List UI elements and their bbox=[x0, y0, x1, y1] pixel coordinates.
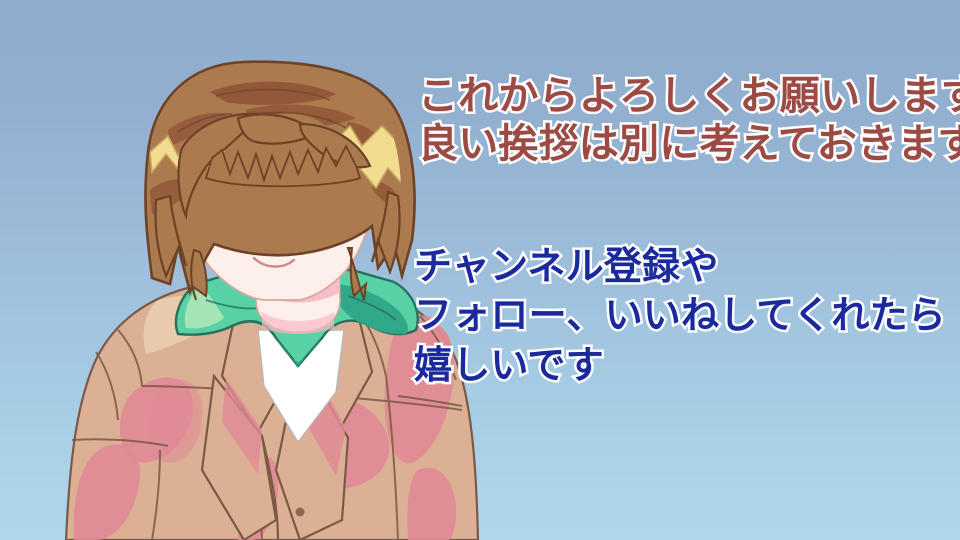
call-to-action-text-block: チャンネル登録や フォロー、いいねしてくれたら 嬉しいです bbox=[414, 247, 946, 395]
cta-line-3: 嬉しいです bbox=[414, 346, 946, 386]
greeting-line-1: これからよろしくお願いします bbox=[418, 75, 960, 117]
outro-card-stage: これからよろしくお願いします 良い挨拶は別に考えておきます チャンネル登録や フ… bbox=[0, 0, 960, 540]
greeting-text-block: これからよろしくお願いします 良い挨拶は別に考えておきます bbox=[418, 75, 960, 172]
cta-line-2: フォロー、いいねしてくれたら bbox=[414, 296, 946, 336]
greeting-line-2: 良い挨拶は別に考えておきます bbox=[418, 123, 960, 165]
cta-line-1: チャンネル登録や bbox=[414, 247, 946, 287]
